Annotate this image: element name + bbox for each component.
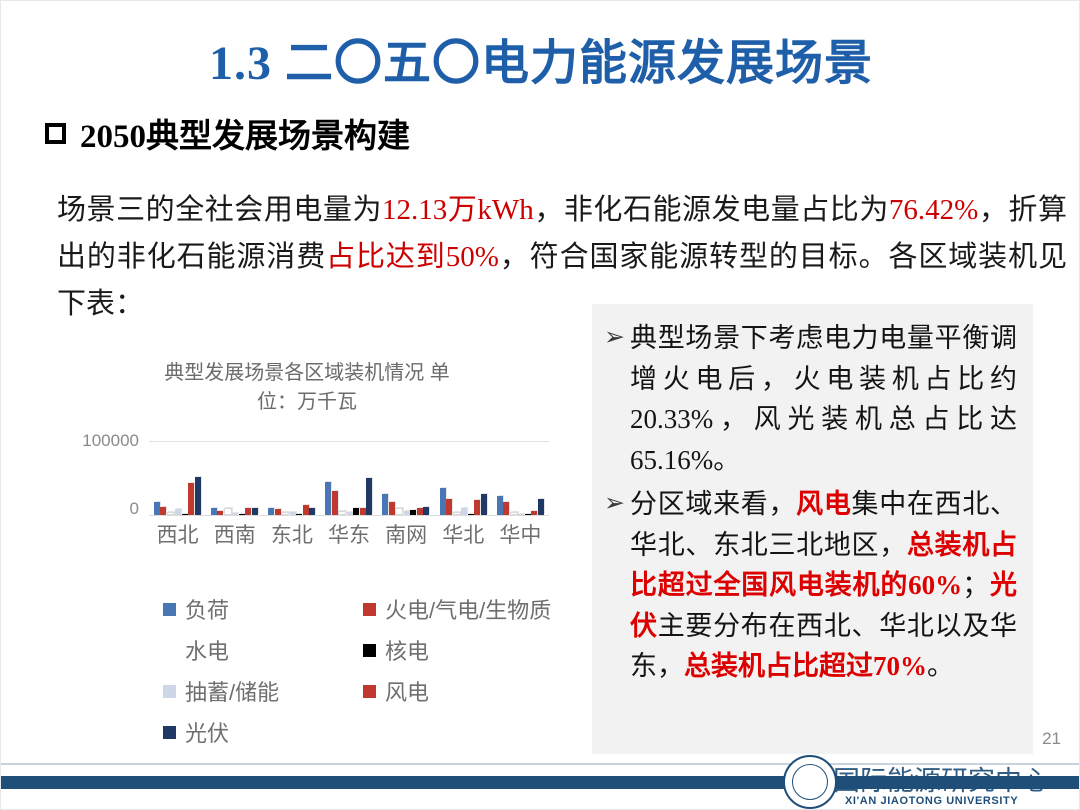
bar-抽蓄/储能-华中 <box>518 514 524 515</box>
callout-item-2: ➢ 分区域来看，风电集中在西北、华北、东北三北地区，总装机占比超过全国风电装机的… <box>604 484 1017 687</box>
bar-火电/气电/生物质-西北 <box>160 507 166 515</box>
bar-水电-西北 <box>167 512 175 515</box>
organization-logo: 国际能源研究中心 XI'AN JIAOTONG UNIVERSITY <box>783 753 1073 810</box>
bar-核电-华北 <box>468 514 474 515</box>
x-axis-label-东北: 东北 <box>263 519 320 549</box>
bar-风电-西北 <box>188 483 194 515</box>
x-axis-labels: 西北西南东北华东南网华北华中 <box>149 519 549 549</box>
legend-swatch-icon <box>363 603 376 616</box>
bar-抽蓄/储能-华东 <box>347 512 353 515</box>
legend-label: 负荷 <box>185 593 229 625</box>
bar-核电-华东 <box>353 508 359 515</box>
bar-火电/气电/生物质-东北 <box>275 509 281 515</box>
callout2-highlight-solar-share: 总装机占比超过70% <box>684 651 927 681</box>
bar-光伏-南网 <box>423 507 429 515</box>
bar-抽蓄/储能-西北 <box>175 509 181 515</box>
bar-负荷-东北 <box>268 508 274 515</box>
legend-swatch-icon <box>163 726 176 739</box>
chart-title-line-1: 典型发展场景各区域装机情况 单 <box>87 359 527 388</box>
paragraph-part-2: ，非化石能源发电量占比为 <box>534 194 889 226</box>
y-axis-tick-0: 0 <box>53 499 139 519</box>
bar-负荷-华中 <box>497 496 503 515</box>
bar-抽蓄/储能-华北 <box>461 508 467 515</box>
x-axis-label-华东: 华东 <box>320 519 377 549</box>
bar-group-西北 <box>149 441 206 515</box>
paragraph-value-nonfossil-share: 76.42% <box>889 194 978 226</box>
legend-item-抽蓄/储能[interactable]: 抽蓄/储能 <box>163 675 363 707</box>
bar-风电-华中 <box>531 511 537 515</box>
bar-风电-东北 <box>303 505 309 515</box>
bar-水电-华北 <box>453 512 461 515</box>
bar-负荷-华北 <box>440 488 446 515</box>
bar-光伏-华中 <box>538 499 544 515</box>
bar-group-华中 <box>492 441 549 515</box>
legend-item-核电[interactable]: 核电 <box>363 634 593 666</box>
page-number: 21 <box>1042 729 1061 749</box>
bar-group-南网 <box>378 441 435 515</box>
bar-火电/气电/生物质-华中 <box>503 502 509 515</box>
callout2-part-1: 分区域来看， <box>630 489 796 519</box>
bar-火电/气电/生物质-华东 <box>332 491 338 515</box>
bar-核电-东北 <box>296 514 302 515</box>
paragraph-value-consumption: 12.13万kWh <box>382 194 534 226</box>
bar-风电-南网 <box>417 508 423 515</box>
slide-canvas: 1.3 二〇五〇电力能源发展场景 2050典型发展场景构建 场景三的全社会用电量… <box>0 0 1080 810</box>
bar-水电-华中 <box>510 512 518 515</box>
chart-legend: 负荷火电/气电/生物质水电核电抽蓄/储能风电光伏 <box>163 593 593 748</box>
x-axis-label-西南: 西南 <box>206 519 263 549</box>
section-heading: 2050典型发展场景构建 <box>45 109 410 157</box>
callout-item-2-text: 分区域来看，风电集中在西北、华北、东北三北地区，总装机占比超过全国风电装机的60… <box>630 484 1017 687</box>
callout2-part-5: 。 <box>927 651 954 681</box>
axis-baseline <box>149 515 549 516</box>
bar-group-华东 <box>320 441 377 515</box>
bar-核电-西南 <box>239 514 245 515</box>
legend-swatch-icon <box>163 603 176 616</box>
bar-火电/气电/生物质-西南 <box>217 511 223 515</box>
legend-label: 抽蓄/储能 <box>185 675 279 707</box>
bar-负荷-西南 <box>211 508 217 515</box>
installed-capacity-chart: 典型发展场景各区域装机情况 单 位：万千瓦 100000 0 西北西南东北华东南… <box>57 359 557 729</box>
legend-label: 风电 <box>385 675 429 707</box>
paragraph-value-target-share: 占比达到50% <box>326 241 499 273</box>
section-heading-label: 2050典型发展场景构建 <box>80 109 410 157</box>
bar-水电-东北 <box>281 512 289 515</box>
bar-负荷-南网 <box>382 494 388 515</box>
bar-火电/气电/生物质-南网 <box>389 502 395 515</box>
legend-label: 水电 <box>185 634 229 666</box>
bar-火电/气电/生物质-华北 <box>446 499 452 515</box>
x-axis-label-华中: 华中 <box>492 519 549 549</box>
bar-光伏-西北 <box>195 477 201 516</box>
logo-english-name: XI'AN JIAOTONG UNIVERSITY <box>845 795 1018 807</box>
legend-label: 核电 <box>385 634 429 666</box>
x-axis-label-南网: 南网 <box>378 519 435 549</box>
bar-抽蓄/储能-西南 <box>232 513 238 515</box>
x-axis-label-西北: 西北 <box>149 519 206 549</box>
legend-item-负荷[interactable]: 负荷 <box>163 593 363 625</box>
logo-chinese-name: 国际能源研究中心 <box>833 759 1049 798</box>
bar-抽蓄/储能-东北 <box>290 512 296 515</box>
legend-item-火电/气电/生物质[interactable]: 火电/气电/生物质 <box>363 593 593 625</box>
bar-核电-南网 <box>410 510 416 515</box>
bar-抽蓄/储能-南网 <box>404 511 410 515</box>
arrow-bullet-icon: ➢ <box>604 318 630 355</box>
bar-光伏-东北 <box>309 508 315 515</box>
bar-核电-西北 <box>182 514 188 515</box>
legend-swatch-icon <box>163 685 176 698</box>
x-axis-label-华北: 华北 <box>435 519 492 549</box>
bar-风电-华北 <box>474 500 480 516</box>
bar-group-东北 <box>263 441 320 515</box>
bar-负荷-华东 <box>325 482 331 515</box>
bar-核电-华中 <box>525 514 531 515</box>
callout2-highlight-wind: 风电 <box>796 489 851 519</box>
chart-plot-area: 100000 0 西北西南东北华东南网华北华中 <box>57 433 557 553</box>
legend-item-光伏[interactable]: 光伏 <box>163 716 363 748</box>
paragraph-part-1: 场景三的全社会用电量为 <box>57 194 382 226</box>
chart-title: 典型发展场景各区域装机情况 单 位：万千瓦 <box>87 359 527 417</box>
legend-item-风电[interactable]: 风电 <box>363 675 593 707</box>
bar-水电-西南 <box>224 508 232 515</box>
page-title: 1.3 二〇五〇电力能源发展场景 <box>1 23 1080 93</box>
legend-label: 火电/气电/生物质 <box>385 593 551 625</box>
legend-swatch-icon <box>163 644 176 657</box>
legend-item-水电[interactable]: 水电 <box>163 634 363 666</box>
bar-group-华北 <box>435 441 492 515</box>
bar-group-西南 <box>206 441 263 515</box>
bar-光伏-西南 <box>252 508 258 515</box>
bar-光伏-华北 <box>481 494 487 516</box>
legend-swatch-icon <box>363 644 376 657</box>
bar-风电-华东 <box>360 508 366 515</box>
legend-label: 光伏 <box>185 716 229 748</box>
university-seal-icon <box>783 755 837 809</box>
callout-item-1-text: 典型场景下考虑电力电量平衡调增火电后，火电装机占比约20.33%，风光装机总占比… <box>630 318 1017 480</box>
chart-bars-container <box>149 441 549 515</box>
callout-item-1: ➢ 典型场景下考虑电力电量平衡调增火电后，火电装机占比约20.33%，风光装机总… <box>604 318 1017 480</box>
bar-风电-西南 <box>245 508 251 515</box>
square-bullet-icon <box>45 123 66 144</box>
legend-swatch-icon <box>363 685 376 698</box>
callout2-part-3: ； <box>962 570 989 600</box>
arrow-bullet-icon-2: ➢ <box>604 484 630 521</box>
y-axis-tick-100000: 100000 <box>53 431 139 451</box>
bar-水电-南网 <box>395 508 403 515</box>
bar-负荷-西北 <box>154 502 160 515</box>
bar-水电-华东 <box>338 511 346 515</box>
bar-光伏-华东 <box>366 478 372 515</box>
callout-box: ➢ 典型场景下考虑电力电量平衡调增火电后，火电装机占比约20.33%，风光装机总… <box>592 304 1033 754</box>
chart-title-line-2: 位：万千瓦 <box>87 388 527 417</box>
